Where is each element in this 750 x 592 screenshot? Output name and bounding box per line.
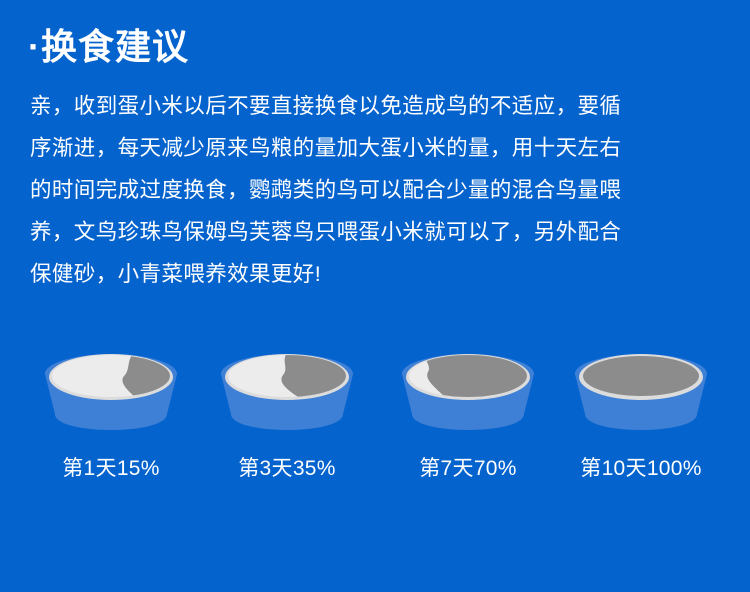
food-bowl-icon — [31, 352, 191, 432]
paragraph-line: 序渐进，每天减少原来鸟粮的量加大蛋小米的量，用十天左右 — [30, 127, 722, 169]
food-bowl-svg — [561, 352, 721, 432]
schedule-step-label: 第10天100% — [556, 452, 726, 482]
paragraph-line: 亲，收到蛋小米以后不要直接换食以免造成鸟的不适应，要循 — [30, 85, 722, 127]
schedule-step-label: 第7天70% — [383, 452, 553, 482]
schedule-step-label: 第1天15% — [26, 452, 196, 482]
paragraph-line: 养，文鸟珍珠鸟保姆鸟芙蓉鸟只喂蛋小米就可以了，另外配合 — [30, 211, 722, 253]
food-bowl-svg — [388, 352, 548, 432]
food-bowl-icon — [561, 352, 721, 432]
food-bowl-icon — [207, 352, 367, 432]
page-title-block: ·换食建议 — [28, 26, 189, 67]
feeding-guide-page: ·换食建议 亲，收到蛋小米以后不要直接换食以免造成鸟的不适应，要循 序渐进，每天… — [0, 0, 750, 592]
food-bowl-svg — [207, 352, 367, 432]
food-bowl-svg — [31, 352, 191, 432]
feeding-instructions-text: 亲，收到蛋小米以后不要直接换食以免造成鸟的不适应，要循 序渐进，每天减少原来鸟粮… — [30, 85, 722, 295]
schedule-step: 第7天70% — [383, 348, 553, 498]
schedule-step: 第3天35% — [202, 348, 372, 498]
transition-schedule: 第1天15% 第3天35% — [0, 348, 750, 498]
schedule-step: 第10天100% — [556, 348, 726, 498]
food-bowl-icon — [388, 352, 548, 432]
schedule-step: 第1天15% — [26, 348, 196, 498]
page-title: ·换食建议 — [28, 26, 189, 67]
schedule-step-label: 第3天35% — [202, 452, 372, 482]
paragraph-line: 的时间完成过度换食，鹦鹉类的鸟可以配合少量的混合鸟量喂 — [30, 169, 722, 211]
paragraph-line: 保健砂，小青菜喂养效果更好! — [30, 253, 722, 295]
